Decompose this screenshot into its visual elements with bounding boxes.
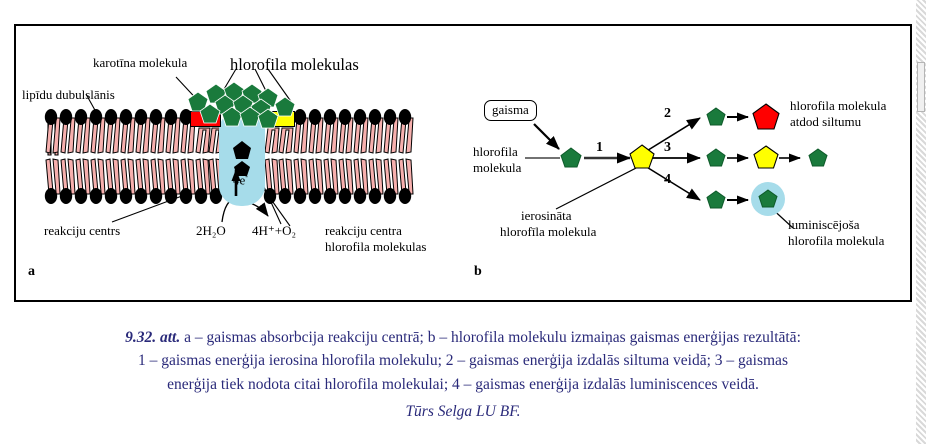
label-heat-line2: atdod siltumu: [790, 115, 861, 130]
label-water-reactant: 2H₂O: [196, 224, 226, 239]
caption-credit: Tūrs Selga LU BF.: [14, 400, 912, 423]
scrollbar-thumb[interactable]: [917, 62, 925, 112]
light-input-box: gaisma: [484, 100, 537, 121]
caption-line-3: enerģija tiek nodota citai hlorofila mol…: [14, 373, 912, 396]
label-chlorophyll-molecules: hlorofila molekulas: [230, 56, 359, 74]
panel-letter-a: a: [28, 264, 35, 280]
label-rc-chlorophylls-line2: hlorofila molekulas: [325, 240, 426, 255]
caption-line-1: 9.32. att. a – gaismas absorbcija reakci…: [14, 326, 912, 349]
caption-figure-number: 9.32. att.: [125, 329, 180, 346]
label-carotene-molecule: karotīna molekula: [93, 56, 187, 71]
label-excited-line1: ierosināta: [521, 209, 572, 224]
reaction-center-capsule: [219, 110, 265, 206]
protein-yellow-block: [264, 111, 295, 127]
panel-letter-b: b: [474, 264, 482, 280]
step-number-3: 3: [664, 140, 671, 156]
carotene-molecule-block: [190, 111, 221, 127]
caption-line-2: 1 – gaismas enerģija ierosina hlorofila …: [14, 349, 912, 372]
label-excited-line2: hlorofīla molekula: [500, 225, 596, 240]
figure-caption: 9.32. att. a – gaismas absorbcija reakci…: [14, 326, 912, 423]
label-luminescent-line2: hlorofila molekula: [788, 234, 884, 249]
label-oxygen-products: 4H⁺+O₂: [252, 224, 296, 239]
step-number-2: 2: [664, 106, 671, 122]
label-reaction-center: reakciju centrs: [44, 224, 120, 239]
electron-count-label: 4e-: [233, 172, 248, 188]
label-chlorophyll-line2: molekula: [473, 161, 521, 176]
step-number-1: 1: [596, 140, 603, 156]
label-chlorophyll-line1: hlorofila: [473, 145, 518, 160]
electron-charge-sign: -: [245, 172, 248, 181]
label-rc-chlorophylls-line1: reakciju centra: [325, 224, 402, 239]
electron-count-value: 4e: [233, 172, 245, 187]
figure-page: 4e- lipīdu dubulslānis karotīna molekula…: [0, 0, 930, 444]
caption-line-1-text: a – gaismas absorbcija reakciju centrā; …: [184, 329, 801, 346]
label-heat-line1: hlorofila molekula: [790, 99, 886, 114]
step-number-4: 4: [664, 172, 671, 188]
label-lipid-bilayer: lipīdu dubulslānis: [22, 88, 115, 103]
label-luminescent-line1: luminiscējoša: [788, 218, 860, 233]
